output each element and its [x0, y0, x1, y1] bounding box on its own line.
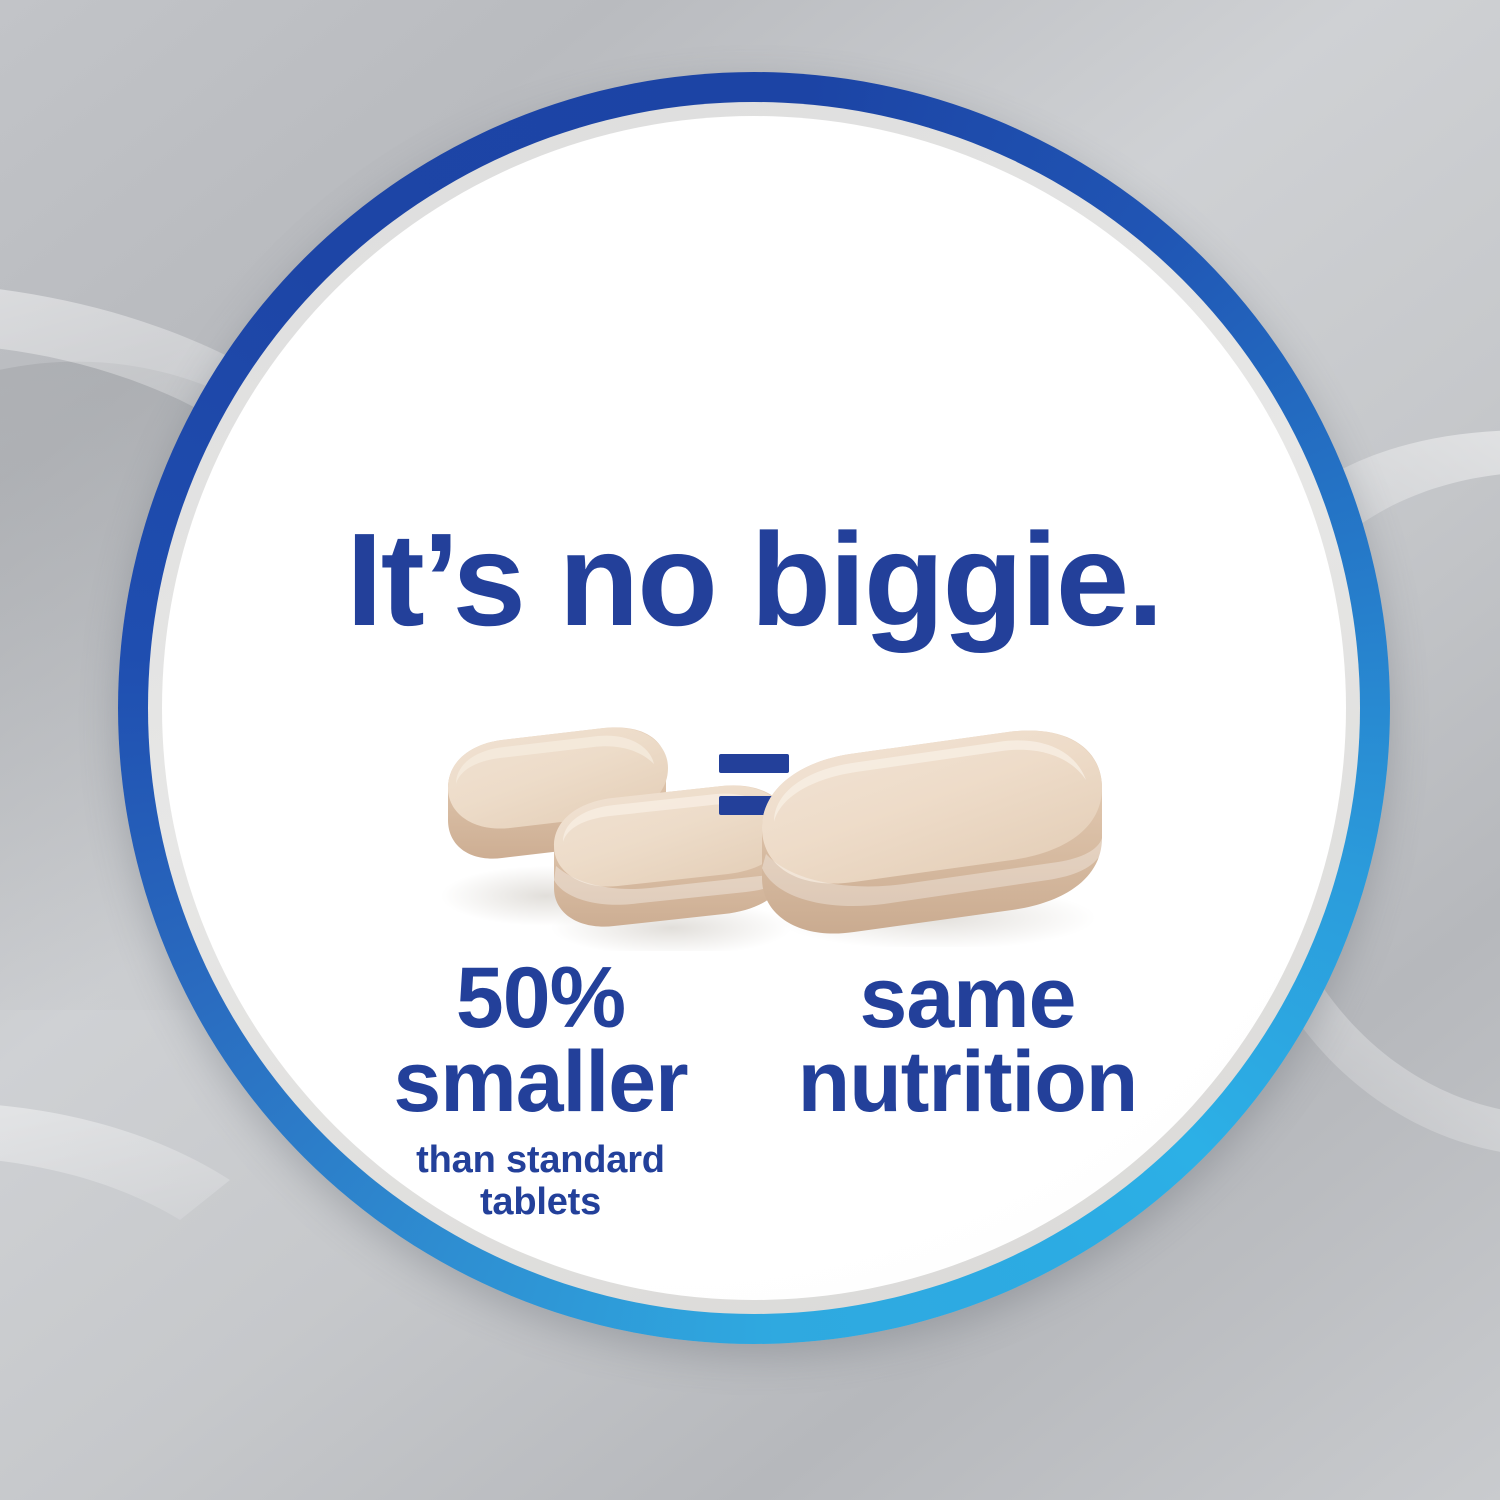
- left-sub-label-line1: than standard: [327, 1139, 754, 1182]
- comparison-panels: [352, 716, 1156, 951]
- tablet-comparison-row: [352, 716, 1156, 951]
- left-sub-label-line2: tablets: [327, 1181, 754, 1224]
- comparison-labels: 50% smaller than standard tablets same n…: [327, 956, 1181, 1224]
- one-large-tablet-image: [740, 722, 1120, 947]
- left-big-label-line1: 50%: [327, 956, 754, 1040]
- right-label-group: same nutrition: [754, 956, 1181, 1125]
- right-big-label-line1: same: [754, 956, 1181, 1040]
- right-big-label-line2: nutrition: [754, 1040, 1181, 1124]
- headline-text: It’s no biggie.: [162, 514, 1346, 646]
- left-big-label-line2: smaller: [327, 1040, 754, 1124]
- promo-image-canvas: It’s no biggie.: [0, 0, 1500, 1500]
- badge-white-disc: It’s no biggie.: [162, 116, 1346, 1300]
- right-big-label: same nutrition: [754, 956, 1181, 1125]
- badge-content: It’s no biggie.: [162, 116, 1346, 1300]
- left-sub-label: than standard tablets: [327, 1139, 754, 1224]
- left-label-group: 50% smaller than standard tablets: [327, 956, 754, 1224]
- circular-badge: It’s no biggie.: [118, 72, 1390, 1344]
- left-big-label: 50% smaller: [327, 956, 754, 1125]
